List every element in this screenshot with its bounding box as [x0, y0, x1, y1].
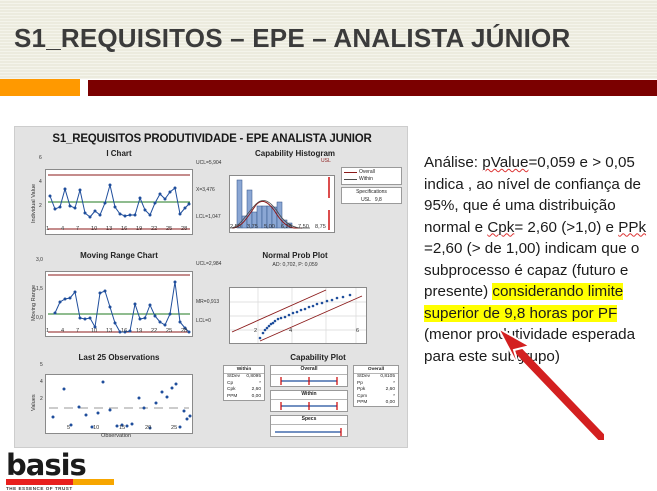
mr-chart-xtick: 19	[136, 328, 142, 334]
histogram-specifications-box: Specifications USL 9,8	[341, 187, 402, 204]
overall-stat-name: PPM	[357, 400, 367, 407]
i-chart-lcl-label: LCL=1,047	[196, 214, 221, 220]
i-chart-xtick: 13	[106, 226, 112, 232]
capability-band-overall: Overall	[270, 365, 348, 387]
i-chart-ucl-label: UCL=5,904	[196, 160, 221, 166]
panel-moving-range-chart: Moving Range Chart Moving Range 3,0 1,5 …	[29, 251, 209, 339]
i-chart-title: I Chart	[29, 149, 209, 158]
mr-chart-xtick: 22	[151, 328, 157, 334]
spec-name-usl: USL	[361, 197, 371, 203]
overall-row: StDev0,8105	[354, 374, 398, 381]
mr-chart-svg	[46, 272, 192, 336]
i-chart-xtick: 10	[91, 226, 97, 232]
capability-plot-title: Capability Plot	[233, 353, 403, 362]
mr-chart-xtick: 13	[106, 328, 112, 334]
logo-wordmark: basis	[6, 452, 124, 478]
capability-band-within-label: Within	[271, 391, 347, 400]
company-logo: basis THE ESSENCE OF TRUST	[6, 452, 124, 488]
panel-capability-plot: Capability Plot Within StDev0,8095 Cp* C…	[223, 353, 403, 445]
histogram-xtick: 2,50	[230, 224, 241, 230]
i-chart-xtick: 4	[61, 226, 64, 232]
i-chart-ytick: 2	[39, 203, 42, 209]
last25-xtick: 5	[67, 425, 70, 431]
histogram-xtick: 8,75	[315, 224, 326, 230]
i-chart-ytick: 6	[39, 155, 42, 161]
histogram-xtick: 6,25	[281, 224, 292, 230]
analysis-part-5: = 2,60 (>1,0) e	[514, 219, 618, 236]
i-chart-xtick: 19	[136, 226, 142, 232]
capability-overall-table: Overall StDev0,8105 Pp* Ppk2,60 Cpm* PPM…	[353, 365, 399, 407]
within-row: PPM0,00	[224, 394, 264, 401]
histogram-legend: Overall Within	[341, 167, 402, 185]
capability-specs-interval-svg	[271, 425, 347, 438]
probplot-title: Normal Prob Plot	[187, 251, 403, 260]
last25-ytick: 5	[40, 362, 43, 368]
capability-within-table: Within StDev0,8095 Cp* Cpk2,60 PPM0,00	[223, 365, 265, 401]
overall-stat-value: 0,8105	[380, 374, 395, 381]
i-chart-xtick: 16	[121, 226, 127, 232]
mr-chart-xtick: 7	[76, 328, 79, 334]
within-stat-name: StDev	[227, 374, 240, 381]
legend-line-overall-icon	[344, 172, 357, 173]
i-chart-svg	[46, 170, 192, 234]
legend-row-within: Within	[342, 175, 401, 182]
mr-chart-xtick: 25	[166, 328, 172, 334]
last25-xtick: 20	[145, 425, 151, 431]
capability-band-specs-label: Specs	[271, 416, 347, 425]
accent-red-rule	[88, 80, 657, 96]
legend-label-overall: Overall	[359, 169, 375, 175]
mr-chart-center-label: MR=0,913	[196, 299, 219, 305]
page-title: S1_REQUISITOS – EPE – ANALISTA JÚNIOR	[14, 23, 570, 54]
report-title: S1_REQUISITOS PRODUTIVIDADE - EPE ANALIS…	[15, 133, 409, 145]
last25-xtick: 25	[171, 425, 177, 431]
within-stat-value: 0,00	[252, 394, 261, 401]
panel-i-chart: I Chart Individual Value 6 4 2	[29, 149, 209, 237]
probplot-xtick: 6	[356, 328, 359, 334]
histogram-usl-marker: USL	[321, 158, 331, 164]
i-chart-xtick: 22	[151, 226, 157, 232]
spec-value-usl: 9,8	[375, 197, 382, 203]
capability-band-overall-label: Overall	[271, 366, 347, 375]
capability-band-within: Within	[270, 390, 348, 412]
mr-chart-title: Moving Range Chart	[29, 251, 209, 260]
i-chart-y-axis-label: Individual Value	[31, 184, 37, 223]
analysis-part-9: (menor produtividade esperada para este …	[424, 326, 635, 365]
probplot-plot-area	[229, 287, 367, 344]
capability-within-interval-svg	[271, 400, 347, 413]
mr-chart-xtick: 1	[46, 328, 49, 334]
mr-chart-xtick: 10	[91, 328, 97, 334]
analysis-text-block: Análise: pValue=0,059 e > 0,05 indica , …	[424, 152, 652, 367]
overall-row: PPM0,00	[354, 400, 398, 407]
mr-chart-ytick: 3,0	[36, 257, 43, 263]
probplot-xtick: 2	[254, 328, 257, 334]
overall-row: Ppk2,60	[354, 387, 398, 394]
probplot-xtick: 4	[289, 328, 292, 334]
last25-ytick: 4	[40, 379, 43, 385]
capability-sixpack-report: S1_REQUISITOS PRODUTIVIDADE - EPE ANALIS…	[14, 126, 408, 448]
histogram-xtick: 3,75	[247, 224, 258, 230]
legend-line-within-icon	[344, 179, 357, 180]
logo-tagline: THE ESSENCE OF TRUST	[6, 486, 124, 491]
last25-xtick: 15	[119, 425, 125, 431]
within-row: StDev0,8095	[224, 374, 264, 381]
overall-stat-value: 0,00	[386, 400, 395, 407]
capability-band-specs: Specs	[270, 415, 348, 437]
analysis-cpk-term: Cpk	[487, 219, 514, 236]
i-chart-xtick: 25	[166, 226, 172, 232]
mr-chart-ytick: 0,0	[36, 315, 43, 321]
within-stat-value: 0,8095	[246, 374, 261, 381]
legend-row-overall: Overall	[342, 168, 401, 175]
capability-overall-interval-svg	[271, 375, 347, 388]
overall-table-header: Overall	[354, 366, 398, 374]
last25-x-axis-label: Observation	[101, 433, 131, 439]
within-stat-name: PPM	[227, 394, 237, 401]
histogram-xtick: 5,00	[264, 224, 275, 230]
analysis-ppk-term: PPk	[618, 219, 646, 236]
within-stat-value: 2,60	[252, 387, 261, 394]
within-row: Cpk2,60	[224, 387, 264, 394]
mr-chart-xtick: 28	[181, 328, 187, 334]
last25-title: Last 25 Observations	[29, 353, 209, 362]
within-table-header: Within	[224, 366, 264, 374]
i-chart-xtick: 7	[76, 226, 79, 232]
i-chart-center-label: X=3,476	[196, 187, 215, 193]
last25-ytick: 2	[40, 396, 43, 402]
probplot-subtitle: AD: 0,702, P: 0,059	[187, 262, 403, 268]
mr-chart-ytick: 1,5	[36, 286, 43, 292]
last25-xtick: 10	[93, 425, 99, 431]
analysis-lead: Análise:	[424, 154, 482, 171]
histogram-xtick: 7,50	[298, 224, 309, 230]
i-chart-ytick: 4	[39, 179, 42, 185]
panel-normal-prob-plot: Normal Prob Plot AD: 0,702, P: 0,059	[225, 251, 403, 339]
mr-chart-xtick: 16	[121, 328, 127, 334]
overall-stat-name: StDev	[357, 374, 370, 381]
mr-chart-xtick: 4	[61, 328, 64, 334]
legend-label-within: Within	[359, 176, 373, 182]
histogram-title: Capability Histogram	[187, 149, 403, 158]
i-chart-xtick: 1	[46, 226, 49, 232]
probplot-svg	[230, 288, 366, 343]
i-chart-xtick: 28	[181, 226, 187, 232]
overall-stat-name: Ppk	[357, 387, 365, 394]
spec-row-usl: USL 9,8	[342, 196, 401, 206]
last25-y-axis-label: Values	[31, 394, 37, 411]
mr-chart-lcl-label: LCL=0	[196, 318, 211, 324]
overall-stat-value: 2,60	[386, 387, 395, 394]
panel-capability-histogram: Capability Histogram USL	[225, 149, 403, 237]
accent-orange-block	[0, 79, 80, 96]
panel-last-25-observations: Last 25 Observations Values 5 4 2	[29, 353, 209, 445]
analysis-pvalue-term: pValue	[482, 154, 528, 171]
within-stat-name: Cpk	[227, 387, 236, 394]
